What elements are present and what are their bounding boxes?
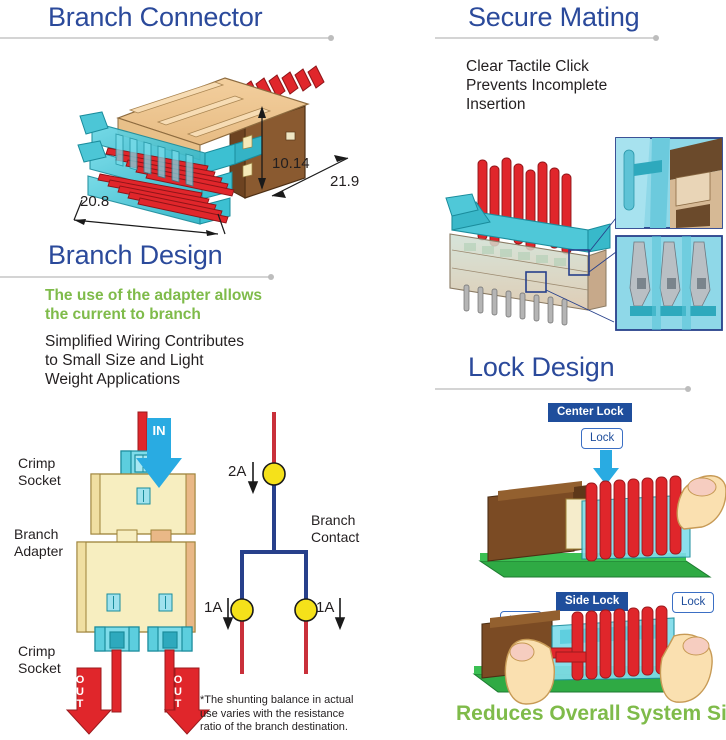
label-current-in: 2A	[228, 463, 246, 480]
tag-center-lock[interactable]: Lock	[581, 428, 623, 449]
section-title-secure-mating: Secure Mating	[468, 2, 640, 33]
out-left-u: U	[76, 686, 84, 698]
divider-branch-design	[0, 276, 270, 278]
dimension-height-label: 10.14	[272, 155, 310, 172]
side-lock-illustration	[460, 600, 726, 710]
dimension-depth-label: 21.9	[330, 173, 359, 190]
center-lock-illustration	[470, 465, 726, 590]
divider-secure-mating	[435, 37, 655, 39]
label-current-out-left: 1A	[204, 599, 222, 616]
out-right-t: T	[175, 698, 182, 710]
secure-mating-body: Clear Tactile Click Prevents Incomplete …	[466, 57, 706, 114]
divider-lock-design	[435, 388, 687, 390]
lock-design-footer: Reduces Overall System Size	[456, 702, 726, 726]
out-arrow-right-label: O U T	[171, 674, 185, 710]
out-arrow-left-label: O U T	[73, 674, 87, 710]
branch-design-footnote: *The shunting balance in actual use vari…	[200, 694, 390, 735]
out-left-o: O	[76, 674, 85, 686]
branch-circuit-diagram	[200, 412, 380, 682]
label-crimp-socket-bottom: Crimp Socket	[18, 643, 61, 677]
label-crimp-socket-top: Crimp Socket	[18, 455, 61, 489]
label-branch-adapter: Branch Adapter	[14, 526, 63, 560]
divider-branch-connector	[0, 37, 330, 39]
section-title-branch-design: Branch Design	[48, 240, 223, 271]
out-right-u: U	[174, 686, 182, 698]
label-current-out-right: 1A	[316, 599, 334, 616]
out-left-t: T	[77, 698, 84, 710]
infographic-page: Branch Connector	[0, 0, 726, 740]
out-right-o: O	[174, 674, 183, 686]
section-title-lock-design: Lock Design	[468, 352, 614, 383]
branch-design-body: Simplified Wiring Contributes to Small S…	[45, 332, 345, 389]
section-title-branch-connector: Branch Connector	[48, 2, 262, 33]
secure-mating-illustration	[438, 130, 726, 330]
label-branch-contact: Branch Contact	[311, 512, 359, 546]
in-arrow-label: IN	[149, 424, 169, 438]
badge-center-lock[interactable]: Center Lock	[548, 403, 632, 422]
dimension-width-label: 20.8	[80, 193, 109, 210]
branch-design-highlight: The use of the adapter allows the curren…	[45, 286, 345, 324]
